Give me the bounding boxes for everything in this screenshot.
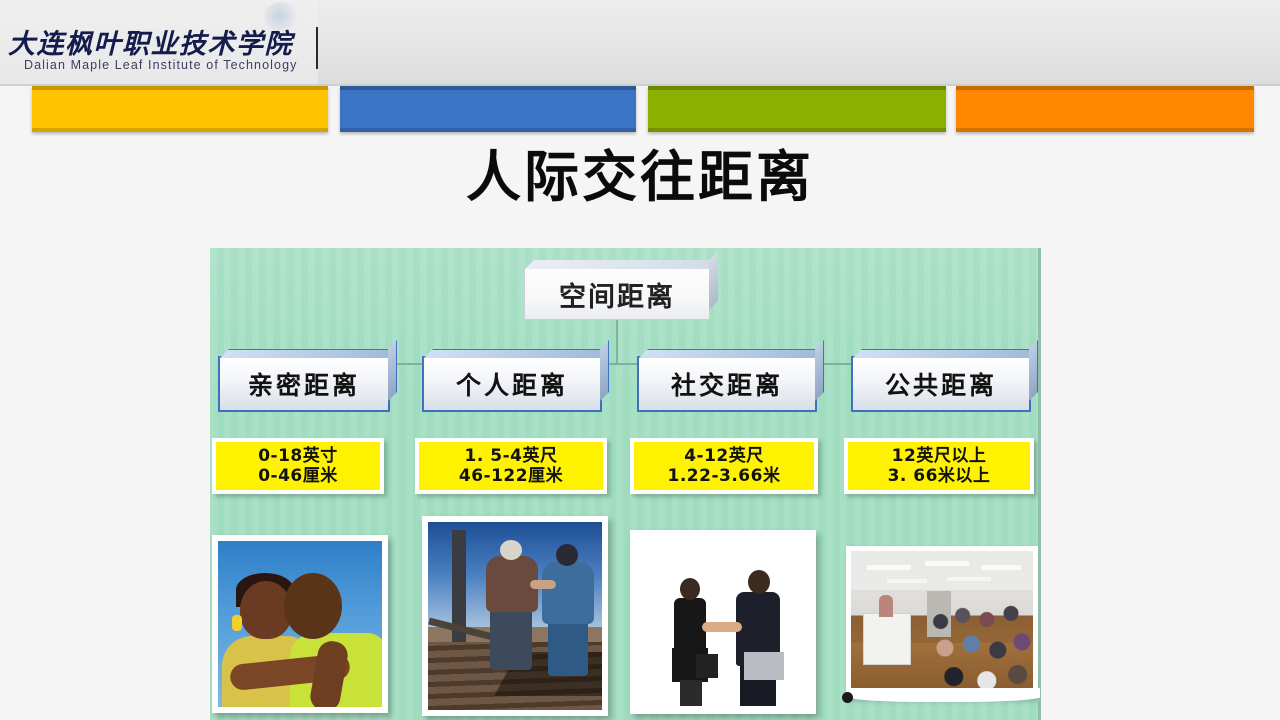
node-side-face bbox=[1029, 340, 1038, 401]
woman-head bbox=[680, 578, 700, 600]
photo-content bbox=[636, 536, 810, 708]
node-label: 个人距离 bbox=[456, 366, 568, 402]
handshake bbox=[702, 622, 742, 632]
university-name-en: Dalian Maple Leaf Institute of Technolog… bbox=[24, 58, 298, 72]
diagram-panel: 空间距离 亲密距离 个人距离 社交距离 公共距离 bbox=[210, 248, 1040, 720]
measurement-imperial: 12英尺以上 bbox=[892, 446, 987, 466]
bar-green bbox=[648, 86, 946, 132]
node-label: 公共距离 bbox=[885, 366, 997, 402]
photo-frame-dot-icon bbox=[842, 692, 853, 703]
header-band: 大连枫叶职业技术学院 Dalian Maple Leaf Institute o… bbox=[0, 0, 1280, 86]
measurement-public: 12英尺以上 3. 66米以上 bbox=[844, 438, 1034, 494]
bar-top-shade bbox=[340, 86, 636, 90]
vertical-divider-icon bbox=[316, 27, 318, 69]
speaker-person bbox=[879, 595, 893, 617]
briefcase-left bbox=[696, 654, 718, 678]
node-side-face bbox=[709, 251, 718, 310]
measurement-imperial: 1. 5-4英尺 bbox=[465, 446, 558, 466]
man-head bbox=[748, 570, 770, 594]
bar-blue bbox=[340, 86, 636, 132]
bar-top-shade bbox=[648, 86, 946, 90]
diagram-root-label: 空间距离 bbox=[559, 275, 675, 314]
bar-yellow bbox=[32, 86, 328, 132]
color-bar-row bbox=[0, 86, 1280, 136]
briefcase-right bbox=[744, 652, 784, 680]
node-label: 亲密距离 bbox=[248, 366, 360, 402]
slide: 大连枫叶职业技术学院 Dalian Maple Leaf Institute o… bbox=[0, 0, 1280, 720]
node-top-face bbox=[220, 349, 397, 358]
photo-frame-tail bbox=[846, 688, 1040, 702]
diagram-node-personal-distance: 个人距离 bbox=[422, 356, 602, 412]
measurement-imperial: 4-12英尺 bbox=[684, 446, 764, 466]
photo-content bbox=[428, 522, 602, 710]
node-label: 社交距离 bbox=[671, 366, 783, 402]
earring bbox=[232, 615, 242, 631]
measurement-intimate: 0-18英寸 0-46厘米 bbox=[212, 438, 384, 494]
bar-top-shade bbox=[32, 86, 328, 90]
audience-seats bbox=[923, 595, 1033, 691]
photo-content bbox=[218, 541, 382, 707]
ceiling-light bbox=[981, 565, 1021, 570]
bar-bottom-shade bbox=[340, 128, 636, 132]
diagram-node-intimate-distance: 亲密距离 bbox=[218, 356, 390, 412]
measurement-metric: 3. 66米以上 bbox=[888, 466, 991, 486]
measurement-metric: 46-122厘米 bbox=[459, 466, 563, 486]
woman-legs bbox=[680, 680, 702, 706]
photo-couple-holding-hands-pier bbox=[422, 516, 608, 716]
node-top-face bbox=[853, 349, 1038, 358]
node-top-face bbox=[639, 349, 824, 358]
ceiling-light bbox=[925, 561, 969, 566]
node-side-face bbox=[600, 340, 609, 401]
photo-content bbox=[851, 551, 1033, 691]
ceiling bbox=[851, 551, 1033, 590]
ceiling-light bbox=[887, 579, 927, 583]
measurement-personal: 1. 5-4英尺 46-122厘米 bbox=[415, 438, 607, 494]
bar-top-shade bbox=[956, 86, 1254, 90]
ceiling-light bbox=[947, 577, 991, 581]
person-1-head bbox=[500, 540, 522, 560]
diagram-right-edge bbox=[1038, 248, 1041, 720]
bar-bottom-shade bbox=[648, 128, 946, 132]
person-b-head bbox=[284, 573, 342, 639]
university-name-cn: 大连枫叶职业技术学院 bbox=[8, 22, 308, 61]
photo-business-handshake bbox=[630, 530, 816, 714]
held-hands bbox=[530, 580, 556, 589]
node-side-face bbox=[815, 340, 824, 401]
podium bbox=[863, 613, 911, 665]
person-1-legs bbox=[490, 608, 532, 670]
page-title: 人际交往距离 bbox=[0, 147, 1280, 208]
photo-lecture-hall-audience bbox=[846, 546, 1038, 696]
measurement-imperial: 0-18英寸 bbox=[258, 446, 338, 466]
bar-bottom-shade bbox=[32, 128, 328, 132]
person-2-torso bbox=[542, 562, 594, 624]
photo-couple-embracing bbox=[212, 535, 388, 713]
connector-root-vertical bbox=[616, 320, 618, 364]
measurement-metric: 0-46厘米 bbox=[258, 466, 338, 486]
diagram-root-node: 空间距离 bbox=[524, 268, 710, 320]
node-side-face bbox=[388, 340, 397, 401]
bar-orange bbox=[956, 86, 1254, 132]
ceiling-light bbox=[867, 565, 911, 570]
person-2-legs bbox=[548, 620, 588, 676]
bar-bottom-shade bbox=[956, 128, 1254, 132]
measurement-social: 4-12英尺 1.22-3.66米 bbox=[630, 438, 818, 494]
node-top-face bbox=[525, 260, 718, 269]
diagram-node-social-distance: 社交距离 bbox=[637, 356, 817, 412]
logo-plate: 大连枫叶职业技术学院 Dalian Maple Leaf Institute o… bbox=[0, 0, 318, 84]
diagram-node-public-distance: 公共距离 bbox=[851, 356, 1031, 412]
node-top-face bbox=[424, 349, 609, 358]
person-2-head bbox=[556, 544, 578, 566]
measurement-metric: 1.22-3.66米 bbox=[668, 466, 781, 486]
